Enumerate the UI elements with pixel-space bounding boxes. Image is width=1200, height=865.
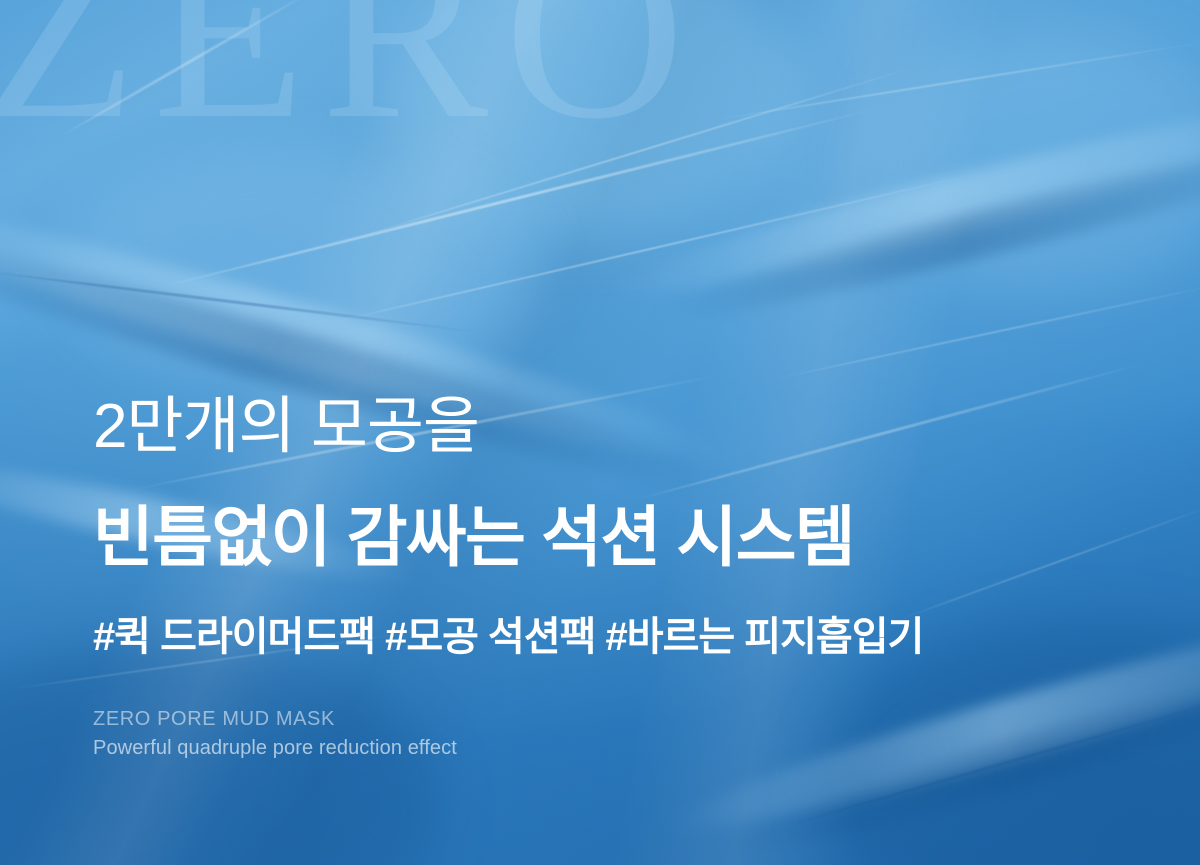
texture-ridge-shade-2 (645, 120, 1200, 339)
subtitle-product-name: ZERO PORE MUD MASK (93, 705, 1103, 734)
zero-watermark-text: ZERO (0, 0, 701, 158)
subtitle-block: ZERO PORE MUD MASK Powerful quadruple po… (93, 657, 1103, 763)
subtitle-description: Powerful quadruple pore reduction effect (93, 734, 1103, 763)
product-promo-banner: ZERO 2만개의 모공을 빈틈없이 감싸는 석션 시스템 #퀵 드라이머드팩 … (0, 0, 1200, 865)
headline-line-1: 2만개의 모공을 (93, 396, 1103, 458)
texture-streak-2 (309, 169, 992, 328)
texture-highlight-blob-2 (860, 30, 1200, 290)
texture-streak-8 (765, 280, 1200, 382)
texture-streak-7 (703, 39, 1200, 122)
headline-line-2: 빈틈없이 감싸는 석션 시스템 (93, 458, 1103, 570)
texture-highlight-blob-3 (60, 150, 540, 390)
hashtag-line: #퀵 드라이머드팩 #모공 석션팩 #바르는 피지흡입기 (93, 570, 1103, 657)
banner-copy-block: 2만개의 모공을 빈틈없이 감싸는 석션 시스템 #퀵 드라이머드팩 #모공 석… (93, 396, 1103, 763)
texture-streak-3 (0, 268, 488, 334)
